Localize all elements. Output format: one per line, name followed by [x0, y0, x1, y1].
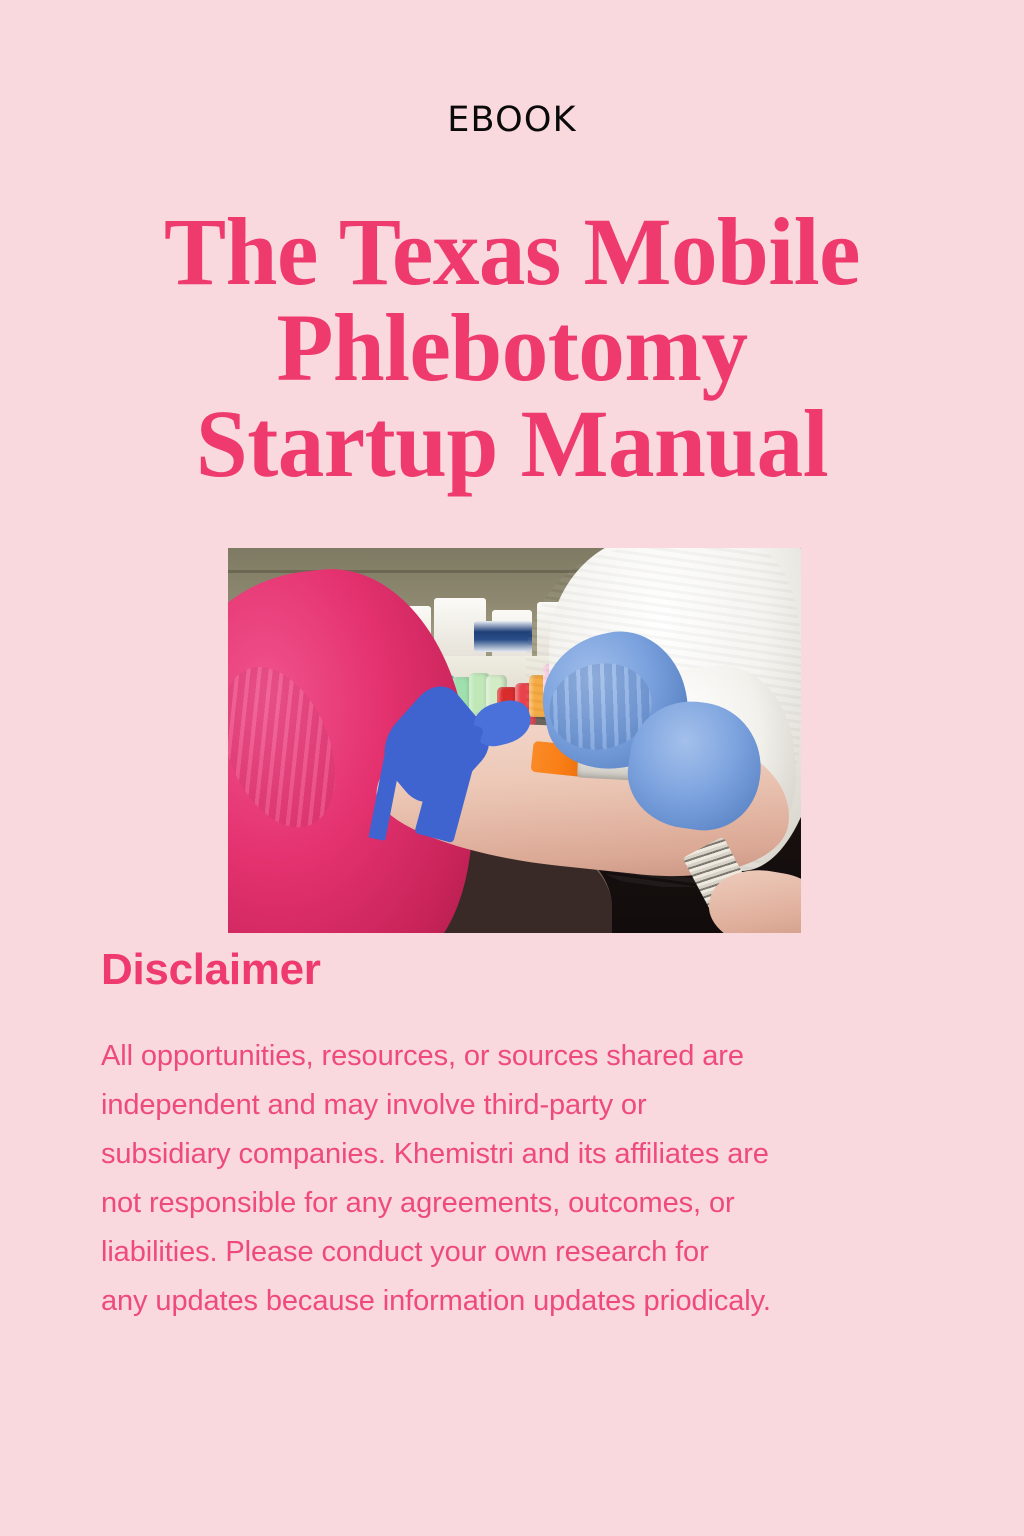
- ebook-kicker-label: EBOOK: [0, 101, 1024, 140]
- disclaimer-heading: Disclaimer: [101, 947, 321, 993]
- disclaimer-line: subsidiary companies. Khemistri and its …: [101, 1130, 946, 1179]
- page-title: The Texas Mobile Phlebotomy Startup Manu…: [76, 204, 949, 492]
- disclaimer-line: All opportunities, resources, or sources…: [101, 1032, 946, 1081]
- disclaimer-body: All opportunities, resources, or sources…: [101, 1032, 946, 1326]
- cover-photo: [228, 548, 801, 933]
- disclaimer-line: not responsible for any agreements, outc…: [101, 1179, 946, 1228]
- disclaimer-line: any updates because information updates …: [101, 1277, 946, 1326]
- page-title-line-1: The Texas Mobile: [76, 204, 949, 300]
- photo-sleeve-folds: [228, 651, 357, 845]
- disclaimer-line: independent and may involve third-party …: [101, 1081, 946, 1130]
- page-title-line-3: Startup Manual: [76, 396, 949, 492]
- disclaimer-line: liabilities. Please conduct your own res…: [101, 1228, 946, 1277]
- ebook-cover-page: EBOOK The Texas Mobile Phlebotomy Startu…: [0, 0, 1024, 1536]
- blood-draw-photo: [228, 548, 801, 933]
- photo-glove-box: [474, 621, 531, 652]
- page-title-line-2: Phlebotomy: [76, 300, 949, 396]
